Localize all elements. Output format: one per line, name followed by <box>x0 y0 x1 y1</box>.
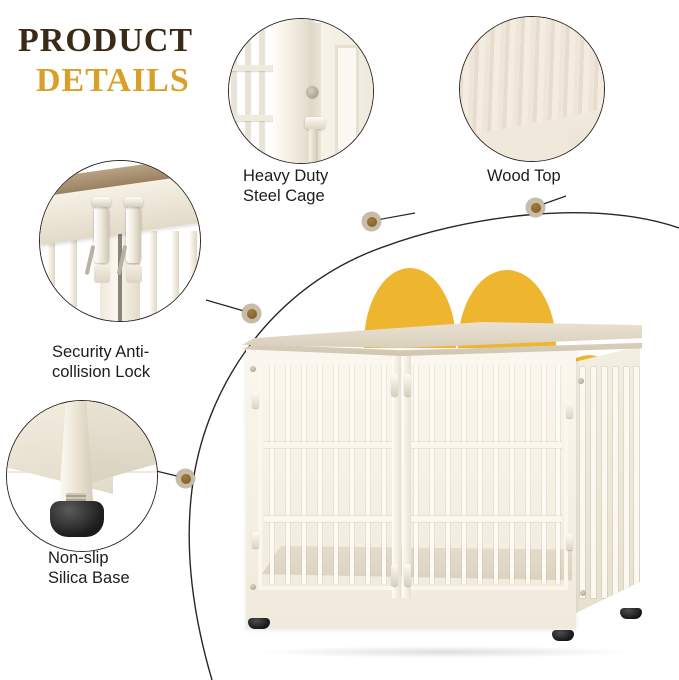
title-line-details: DETAILS <box>14 64 234 98</box>
crate-screw-icon <box>250 584 256 590</box>
callout-label-wood-top-line1: Wood Top <box>487 166 637 186</box>
callout-label-security-lock-line1: Security Anti- <box>52 342 212 362</box>
callout-image-steel-cage <box>228 18 374 164</box>
connector-dot-wood-top <box>526 198 545 217</box>
cage-latch <box>305 117 325 129</box>
lock-bolt-base-left <box>94 265 110 283</box>
product-shadow <box>260 646 630 658</box>
callout-image-silica-base <box>6 400 158 552</box>
crate-screw-icon <box>578 378 584 384</box>
crate-screw-icon <box>580 590 586 596</box>
callout-label-silica-base-line1: Non-slip <box>48 548 198 568</box>
cage-latch-rod <box>309 129 318 164</box>
callout-image-wood-top <box>459 16 605 162</box>
callout-label-wood-top: Wood Top <box>487 166 637 186</box>
crate-foot-front-left <box>248 618 270 629</box>
callout-label-steel-cage: Heavy Duty Steel Cage <box>243 166 393 206</box>
cage-horizontal-rail <box>229 65 275 71</box>
crate-hinge-right-lower <box>566 534 573 550</box>
callout-label-silica-base: Non-slip Silica Base <box>48 548 198 588</box>
infographic-canvas: PRODUCT DETAILS <box>0 0 679 680</box>
lock-bolt-right <box>126 207 141 263</box>
cage-vertical-bars-left <box>229 19 275 163</box>
crate-latch-top-left[interactable] <box>391 374 398 396</box>
lock-bolt-left <box>94 207 109 263</box>
crate-latch-top-right[interactable] <box>404 374 411 396</box>
callout-label-security-lock-line2: collision Lock <box>52 362 212 382</box>
crate-wood-top <box>242 322 642 348</box>
crate-side-panel <box>574 346 640 614</box>
callout-label-security-lock: Security Anti- collision Lock <box>52 342 212 382</box>
callout-image-security-lock <box>39 160 201 322</box>
crate-hinge-left-upper <box>252 392 259 408</box>
connector-dot-steel-cage <box>362 212 381 231</box>
dog-crate-furniture <box>236 322 654 652</box>
cage-horizontal-rail <box>229 115 275 121</box>
crate-door-left[interactable] <box>258 360 398 590</box>
lock-bolt-cap-left <box>92 197 111 207</box>
crate-hinge-right-upper <box>566 402 573 418</box>
lock-bolt-base-right <box>126 265 142 283</box>
crate-door-right[interactable] <box>402 360 568 590</box>
lock-bolt-cap-right <box>124 197 143 207</box>
crate-foot-back-right <box>620 608 642 619</box>
crate-screw-icon <box>250 366 256 372</box>
cage-vertical-bars-right <box>367 19 373 163</box>
crate-latch-bottom-left[interactable] <box>391 564 398 586</box>
cage-screw-icon <box>307 87 318 98</box>
connector-dot-silica-base <box>176 469 195 488</box>
crate-door-left-bars <box>264 366 392 584</box>
cage-door-inset <box>335 45 359 159</box>
callout-label-steel-cage-line1: Heavy Duty <box>243 166 393 186</box>
crate-foot-front-right <box>552 630 574 641</box>
cage-door-panel <box>321 19 373 163</box>
title-line-product: PRODUCT <box>14 24 234 58</box>
callout-label-silica-base-line2: Silica Base <box>48 568 198 588</box>
product-image-dog-crate-end-table <box>236 262 666 662</box>
crate-hinge-left-lower <box>252 532 259 548</box>
callout-label-steel-cage-line2: Steel Cage <box>243 186 393 206</box>
crate-latch-bottom-right[interactable] <box>404 564 411 586</box>
crate-door-right-bars <box>408 366 562 584</box>
base-rubber-foot <box>50 501 104 537</box>
page-title: PRODUCT DETAILS <box>14 24 234 98</box>
